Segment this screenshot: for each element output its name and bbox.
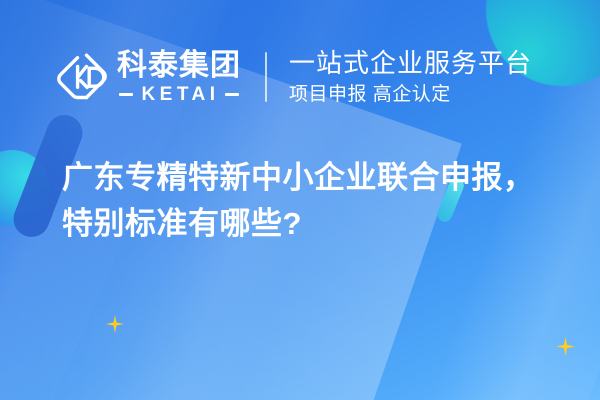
platform-subtitle: 项目申报 高企认定 (289, 85, 532, 106)
headline-line-2: 特别标准有哪些? (62, 201, 572, 247)
ketai-diamond-kd-monogram-icon (56, 51, 108, 103)
sparkle-icon-left (106, 315, 124, 333)
brand-name-en-row: KETAI (117, 85, 241, 104)
header-vertical-divider (265, 52, 267, 102)
brand-logo[interactable]: 科泰集团 KETAI (56, 51, 241, 104)
banner-header: 科泰集团 KETAI 一站式企业服务平台 项目申报 高企认定 (0, 34, 600, 120)
teal-circle-left (0, 150, 50, 226)
headline-line-1: 广东专精特新中小企业联合申报， (62, 155, 572, 201)
promo-banner: 科泰集团 KETAI 一站式企业服务平台 项目申报 高企认定 广东专精特新中小企… (0, 0, 600, 400)
brand-name-cn: 科泰集团 (117, 51, 241, 81)
brand-wordmark: 科泰集团 KETAI (117, 51, 241, 104)
wordmark-dash-right-icon (225, 93, 239, 96)
platform-tagline: 一站式企业服务平台 项目申报 高企认定 (289, 49, 532, 106)
sparkle-icon-right (556, 337, 575, 356)
platform-title: 一站式企业服务平台 (289, 49, 532, 78)
page-title: 广东专精特新中小企业联合申报， 特别标准有哪些? (62, 155, 572, 247)
wordmark-dash-left-icon (119, 93, 133, 96)
brand-name-en: KETAI (133, 85, 224, 104)
